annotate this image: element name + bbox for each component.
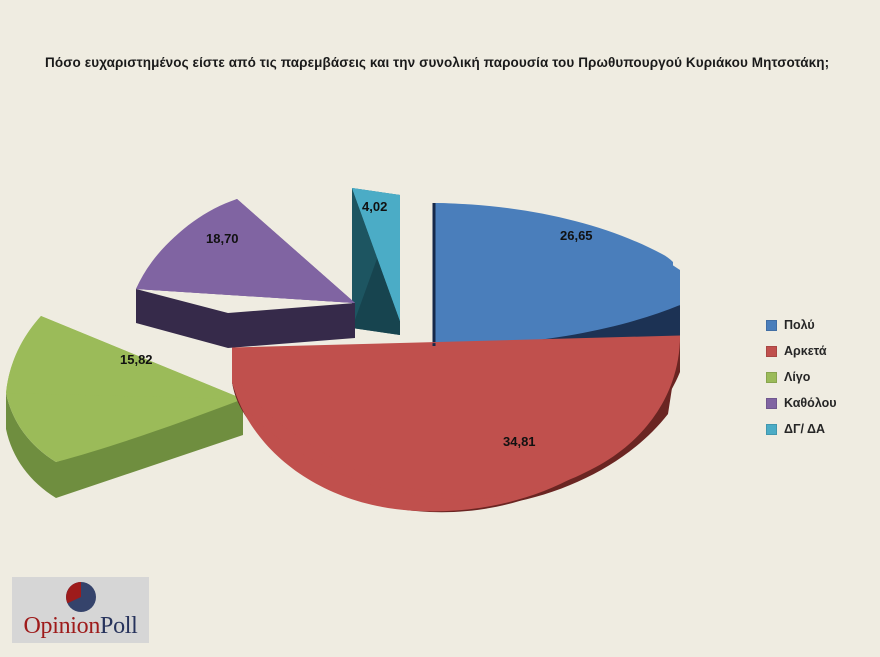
legend-item-ligo[interactable]: Λίγο <box>766 364 866 390</box>
slice-label-dg-da: 4,02 <box>362 199 387 214</box>
logo-opinion-text: Opinion <box>23 613 100 639</box>
legend-label: Αρκετά <box>784 344 827 358</box>
pie-slice-arketa <box>232 336 680 512</box>
legend-item-katholou[interactable]: Καθόλου <box>766 390 866 416</box>
legend-swatch-icon <box>766 398 777 409</box>
legend-item-dg-da[interactable]: ΔΓ/ ΔΑ <box>766 416 866 442</box>
pie-chart-figure: Πόσο ευχαριστημένος είστε από τις παρεμβ… <box>0 0 880 657</box>
slice-label-ligo: 15,82 <box>120 352 153 367</box>
legend-label: Καθόλου <box>784 396 837 410</box>
chart-title: Πόσο ευχαριστημένος είστε από τις παρεμβ… <box>45 52 845 74</box>
pie-logo-icon <box>61 581 101 613</box>
slice-label-poly: 26,65 <box>560 228 593 243</box>
legend-swatch-icon <box>766 320 777 331</box>
legend-label: ΔΓ/ ΔΑ <box>784 422 825 436</box>
slice-label-katholou: 18,70 <box>206 231 239 246</box>
legend-swatch-icon <box>766 424 777 435</box>
pie-slice-katholou <box>136 199 355 348</box>
legend-swatch-icon <box>766 346 777 357</box>
legend-swatch-icon <box>766 372 777 383</box>
chart-legend: Πολύ Αρκετά Λίγο Καθόλου ΔΓ/ ΔΑ <box>766 312 866 442</box>
legend-label: Λίγο <box>784 370 810 384</box>
logo-wordmark: OpinionPoll <box>23 614 137 638</box>
pie-slice-ligo <box>6 316 243 498</box>
opinion-poll-logo: OpinionPoll <box>12 577 149 643</box>
logo-poll-text: Poll <box>100 613 137 639</box>
slice-label-arketa: 34,81 <box>503 434 536 449</box>
legend-label: Πολύ <box>784 318 815 332</box>
legend-item-poly[interactable]: Πολύ <box>766 312 866 338</box>
legend-item-arketa[interactable]: Αρκετά <box>766 338 866 364</box>
